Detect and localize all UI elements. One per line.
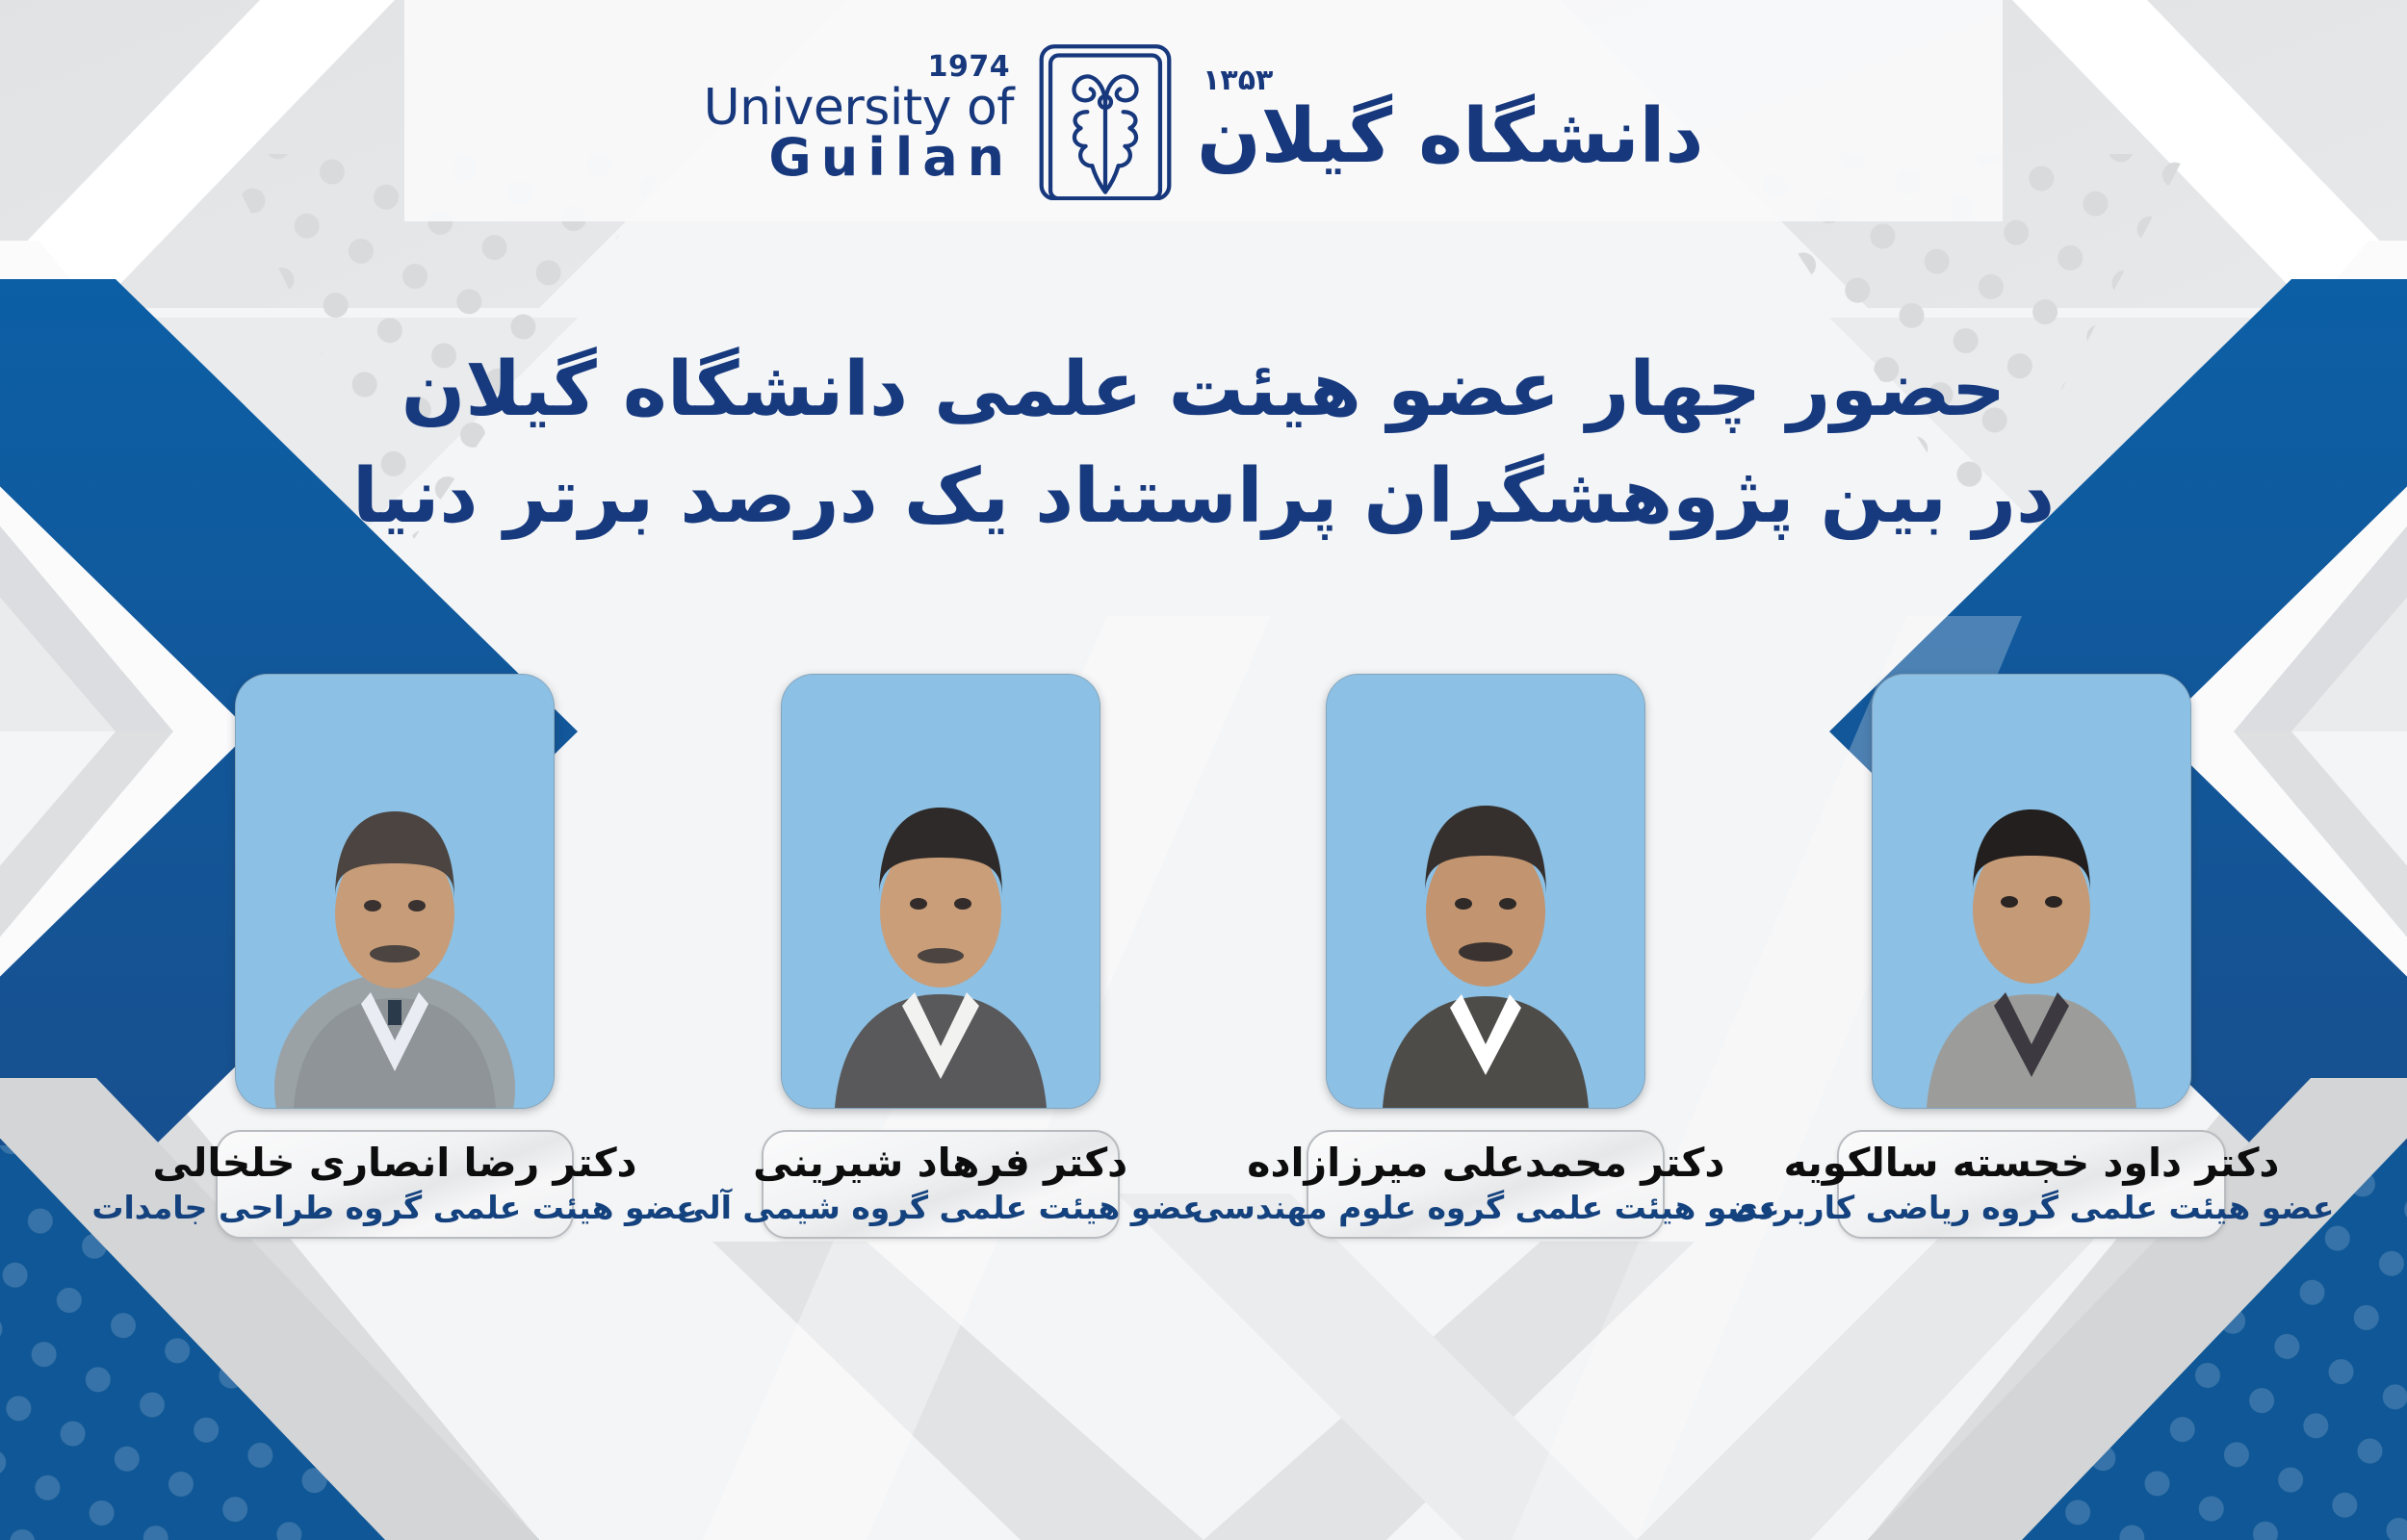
researcher-role: عضو هیئت علمی گروه طراحی جامدات bbox=[91, 1190, 697, 1227]
title-line-2: در بین پژوهشگران پراستناد یک درصد برتر د… bbox=[0, 444, 2407, 551]
researcher-role: عضو هیئت علمی گروه شیمی آلی bbox=[677, 1190, 1204, 1227]
researcher-name: دکتر داود خجسته سالکویه bbox=[1784, 1141, 2280, 1187]
page-title: حضور چهار عضو هیئت علمی دانشگاه گیلان در… bbox=[0, 337, 2407, 551]
portrait-illustration bbox=[1873, 675, 2190, 1108]
portrait-farhad-shirini bbox=[781, 674, 1100, 1109]
portrait-reza-ansari-khalkhali bbox=[235, 674, 555, 1109]
researcher-list: دکتر رضا انصاری خلخالی عضو هیئت علمی گرو… bbox=[236, 674, 2190, 1239]
researcher-card: دکتر محمدعلی میرزازاده عضو هیئت علمی گرو… bbox=[1327, 674, 1644, 1239]
researcher-role: عضو هیئت علمی گروه علوم مهندسی bbox=[1192, 1190, 1780, 1227]
logo-persian-text: ۱۳۵۳ دانشگاه گیلان bbox=[1197, 64, 1703, 174]
portrait-davod-khojasteh-salkuyeh bbox=[1872, 674, 2191, 1109]
researcher-nametag: دکتر محمدعلی میرزازاده عضو هیئت علمی گرو… bbox=[1307, 1130, 1665, 1239]
logo-year-persian: ۱۳۵۳ bbox=[1203, 64, 1273, 97]
researcher-nametag: دکتر رضا انصاری خلخالی عضو هیئت علمی گرو… bbox=[216, 1130, 574, 1239]
logo-university-word: University of bbox=[704, 84, 1014, 133]
portrait-illustration bbox=[782, 675, 1100, 1108]
logo-guilan-word: Guilan bbox=[768, 133, 1014, 184]
researcher-name: دکتر محمدعلی میرزازاده bbox=[1247, 1141, 1724, 1187]
researcher-card: دکتر فرهاد شیرینی عضو هیئت علمی گروه شیم… bbox=[782, 674, 1100, 1239]
logo-year-gregorian: 1974 bbox=[928, 53, 1011, 81]
researcher-nametag: دکتر فرهاد شیرینی عضو هیئت علمی گروه شیم… bbox=[762, 1130, 1120, 1239]
researcher-card: دکتر داود خجسته سالکویه عضو هیئت علمی گر… bbox=[1873, 674, 2190, 1239]
researcher-nametag: دکتر داود خجسته سالکویه عضو هیئت علمی گر… bbox=[1837, 1130, 2226, 1239]
guilan-emblem-icon bbox=[1023, 37, 1187, 200]
title-line-1: حضور چهار عضو هیئت علمی دانشگاه گیلان bbox=[0, 337, 2407, 444]
logo-university-name-fa: دانشگاه گیلان bbox=[1197, 99, 1703, 174]
logo-english-text: 1974 University of Guilan bbox=[704, 53, 1014, 183]
university-logo: 1974 University of Guilan ۱۳۵۳ دانشگاه گ… bbox=[0, 27, 2407, 210]
portrait-illustration bbox=[1327, 675, 1644, 1108]
researcher-role: عضو هیئت علمی گروه ریاضی کاربردی bbox=[1729, 1190, 2335, 1227]
researcher-name: دکتر فرهاد شیرینی bbox=[753, 1141, 1127, 1187]
portrait-mohammadali-mirzazadeh bbox=[1326, 674, 1645, 1109]
poster-canvas: 1974 University of Guilan ۱۳۵۳ دانشگاه گ… bbox=[0, 0, 2407, 1540]
portrait-illustration bbox=[236, 675, 554, 1108]
researcher-card: دکتر رضا انصاری خلخالی عضو هیئت علمی گرو… bbox=[236, 674, 554, 1239]
researcher-name: دکتر رضا انصاری خلخالی bbox=[152, 1141, 636, 1187]
